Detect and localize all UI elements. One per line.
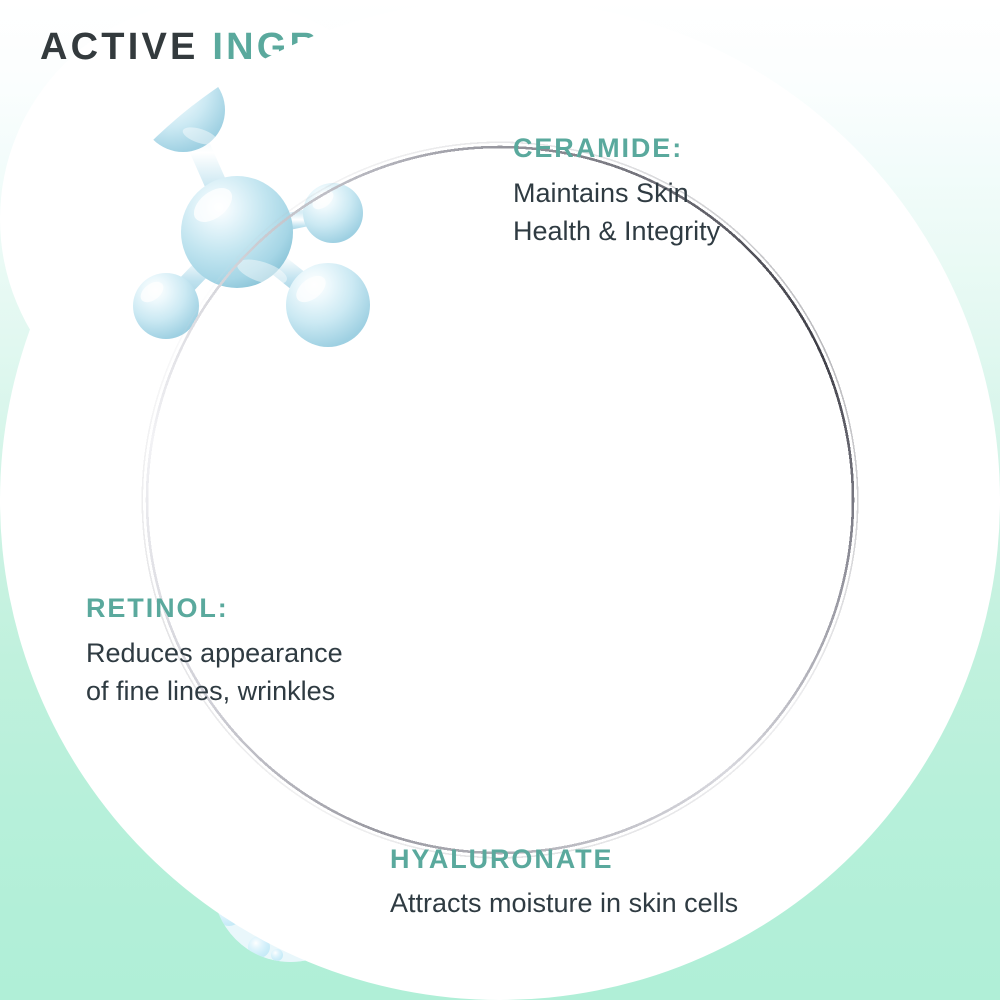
page-title-word-active: ACTIVE — [40, 26, 199, 68]
hyaluronate-heading: HYALURONATE — [390, 843, 738, 875]
ceramide-description-line-2: Health & Integrity — [513, 213, 720, 250]
hyaluronate-label-block: HYALURONATE Attracts moisture in skin ce… — [390, 843, 738, 923]
hyaluronate-description-line-1: Attracts moisture in skin cells — [390, 885, 738, 922]
ceramide-heading: CERAMIDE: — [513, 132, 720, 164]
infographic-canvas: ACTIVE INGREDIENTS — [0, 0, 1000, 1000]
retinol-description-line-2: of fine lines, wrinkles — [86, 673, 343, 710]
ceramide-label-block: CERAMIDE: Maintains Skin Health & Integr… — [513, 132, 720, 250]
ceramide-description-line-1: Maintains Skin — [513, 175, 720, 212]
retinol-label-block: RETINOL: Reduces appearance of fine line… — [86, 592, 343, 710]
retinol-heading: RETINOL: — [86, 592, 343, 624]
retinol-description-line-1: Reduces appearance — [86, 635, 343, 672]
